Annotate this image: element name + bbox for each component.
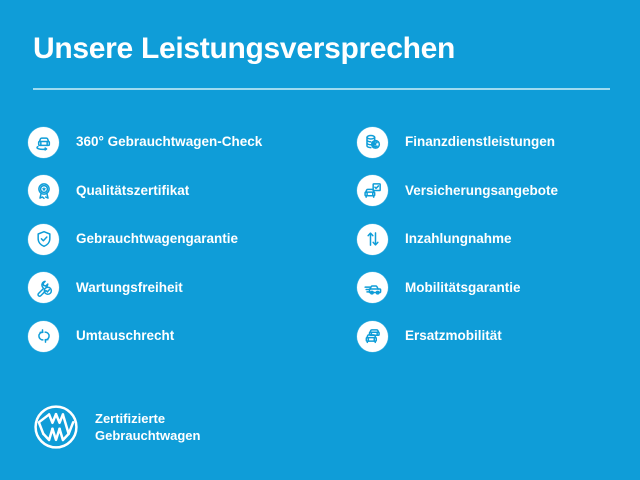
promise-item-maintenance-free[interactable]: Wartungsfreiheit [28,264,320,313]
quality-award-icon [28,175,59,206]
promise-label: Versicherungsangebote [405,182,558,200]
car-speed-icon [357,272,388,303]
promise-item-quality-certificate[interactable]: Qualitätszertifikat [28,167,320,216]
wrench-check-icon [28,272,59,303]
promise-label: 360° Gebrauchtwagen-Check [76,133,262,151]
promises-poster: Unsere Leistungsversprechen 360° Gebrauc [0,0,640,480]
brand-footer: Zertifizierte Gebrauchtwagen [33,404,200,450]
promise-label: Finanzdienstleistungen [405,133,555,151]
promise-label: Umtauschrecht [76,327,174,345]
promise-label: Gebrauchtwagengarantie [76,230,238,248]
promise-item-mobility-guarantee[interactable]: Mobilitätsgarantie [357,264,640,313]
promise-item-exchange-right[interactable]: Umtauschrecht [28,312,320,361]
coins-euro-icon [357,127,388,158]
promises-column-right: Finanzdienstleistungen Versicheru [320,118,640,361]
car-document-icon [357,175,388,206]
promise-label: Inzahlungnahme [405,230,512,248]
shield-check-icon [28,224,59,255]
promise-item-warranty[interactable]: Gebrauchtwagengarantie [28,215,320,264]
page-title: Unsere Leistungsversprechen [33,30,610,68]
two-cars-icon [357,321,388,352]
promise-item-financial-services[interactable]: Finanzdienstleistungen [357,118,640,167]
promise-label: Qualitätszertifikat [76,182,189,200]
car-360-check-icon [28,127,59,158]
brand-line-2: Gebrauchtwagen [95,427,200,444]
promise-item-insurance-offers[interactable]: Versicherungsangebote [357,167,640,216]
promise-item-360-check[interactable]: 360° Gebrauchtwagen-Check [28,118,320,167]
promise-item-trade-in[interactable]: Inzahlungnahme [357,215,640,264]
promise-label: Wartungsfreiheit [76,279,183,297]
promise-label: Ersatzmobilität [405,327,502,345]
exchange-arrows-icon [28,321,59,352]
promises-column-left: 360° Gebrauchtwagen-Check Qualitätszerti… [0,118,320,361]
promise-item-replacement-mobility[interactable]: Ersatzmobilität [357,312,640,361]
volkswagen-logo [33,404,79,450]
up-down-arrows-icon [357,224,388,255]
header: Unsere Leistungsversprechen [33,30,610,90]
brand-line-1: Zertifizierte [95,410,200,427]
brand-text: Zertifizierte Gebrauchtwagen [95,410,200,444]
promise-label: Mobilitätsgarantie [405,279,521,297]
title-divider [33,88,610,90]
promises-columns: 360° Gebrauchtwagen-Check Qualitätszerti… [0,118,640,361]
